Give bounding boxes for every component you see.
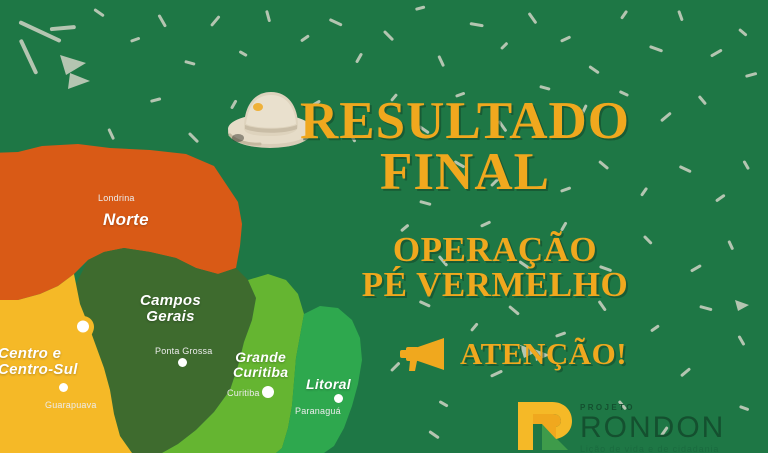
subtitle-line-1: OPERAÇÃO xyxy=(330,232,660,267)
logo-tagline-label: Lição de vida e de cidadania xyxy=(580,445,725,453)
city-label-guarapuava: Guarapuava xyxy=(45,400,97,410)
subtitle-line-2: PÉ VERMELHO xyxy=(330,267,660,302)
attention-block: ATENÇÃO! xyxy=(400,336,627,372)
map-pin-londrina[interactable] xyxy=(72,316,94,346)
region-label-norte: Norte xyxy=(103,211,149,229)
headline-line-1: RESULTADO xyxy=(250,96,680,147)
poster-canvas: Norte Campos Gerais Centro e Centro-Sul … xyxy=(0,0,768,453)
megaphone-icon xyxy=(400,336,446,372)
city-label-londrina: Londrina xyxy=(98,193,135,203)
region-label-grande-curitiba: Grande Curitiba xyxy=(233,350,288,379)
city-label-curitiba: Curitiba xyxy=(227,388,260,398)
logo-name-label: RONDON xyxy=(580,413,725,443)
subtitle-block: OPERAÇÃO PÉ VERMELHO xyxy=(330,232,660,302)
projeto-rondon-logo-text: PROJETO RONDON Lição de vida e de cidada… xyxy=(580,404,725,453)
city-dot-guarapuava xyxy=(59,383,68,392)
city-dot-ponta-grossa xyxy=(178,358,187,367)
city-dot-paranagua xyxy=(334,394,343,403)
region-label-campos-gerais: Campos Gerais xyxy=(140,293,201,325)
city-label-ponta-grossa: Ponta Grossa xyxy=(155,346,212,356)
city-label-paranagua: Paranaguá xyxy=(295,406,341,416)
city-dot-curitiba xyxy=(262,386,274,398)
region-label-litoral: Litoral xyxy=(306,377,351,392)
attention-label: ATENÇÃO! xyxy=(460,336,627,372)
region-label-centro-e-centro-sul: Centro e Centro-Sul xyxy=(0,346,78,378)
headline-block: RESULTADO FINAL xyxy=(250,96,680,198)
headline-line-2: FINAL xyxy=(250,147,680,198)
